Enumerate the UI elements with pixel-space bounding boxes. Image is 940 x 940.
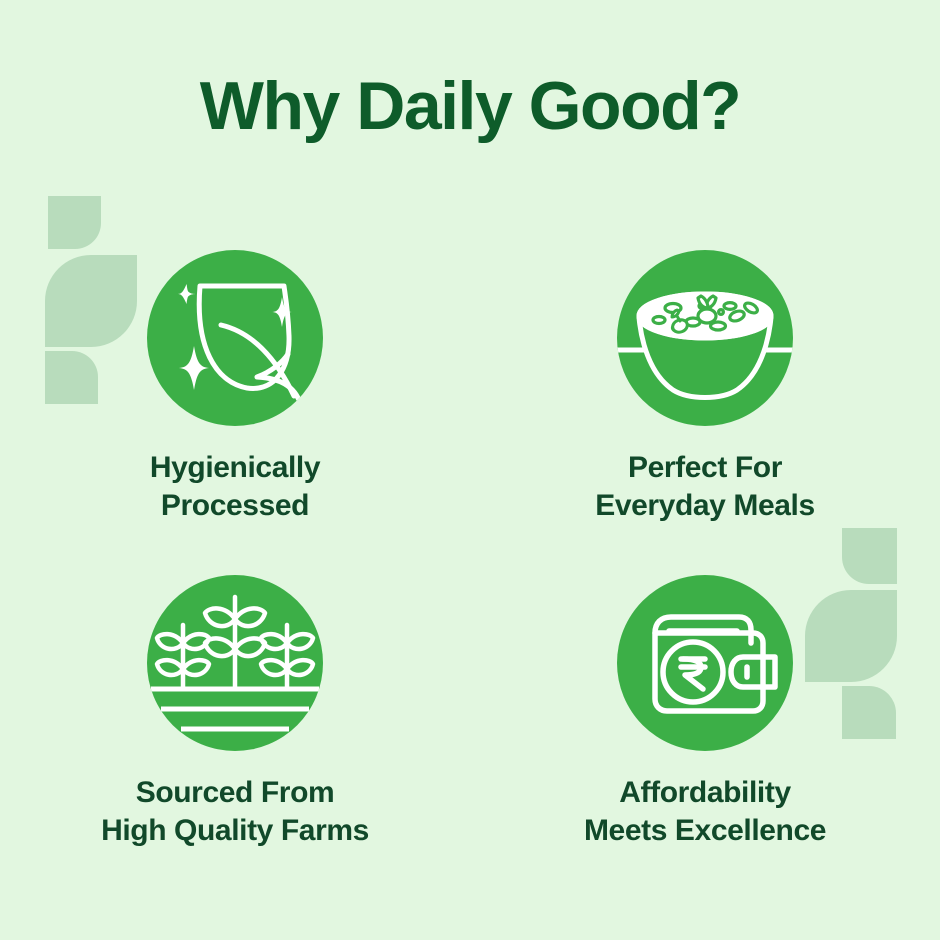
feature-item-affordability: Affordability Meets Excellence	[470, 575, 940, 900]
leaf-sparkle-icon	[147, 250, 323, 426]
feature-grid: Hygienically Processed	[0, 250, 940, 900]
feature-label: Hygienically Processed	[150, 449, 320, 526]
crop-field-icon	[147, 575, 323, 751]
feature-item-hygienically-processed: Hygienically Processed	[0, 250, 470, 575]
feature-label: Affordability Meets Excellence	[584, 774, 826, 851]
leaf-shape-icon	[48, 196, 101, 249]
feature-item-everyday-meals: Perfect For Everyday Meals	[470, 250, 940, 575]
feature-label: Perfect For Everyday Meals	[595, 449, 815, 526]
page-title: Why Daily Good?	[0, 72, 940, 140]
feature-label: Sourced From High Quality Farms	[101, 774, 369, 851]
soup-bowl-icon	[617, 250, 793, 426]
promo-graphic: Why Daily Good?	[0, 0, 940, 940]
wallet-rupee-icon	[617, 575, 793, 751]
feature-item-high-quality-farms: Sourced From High Quality Farms	[0, 575, 470, 900]
